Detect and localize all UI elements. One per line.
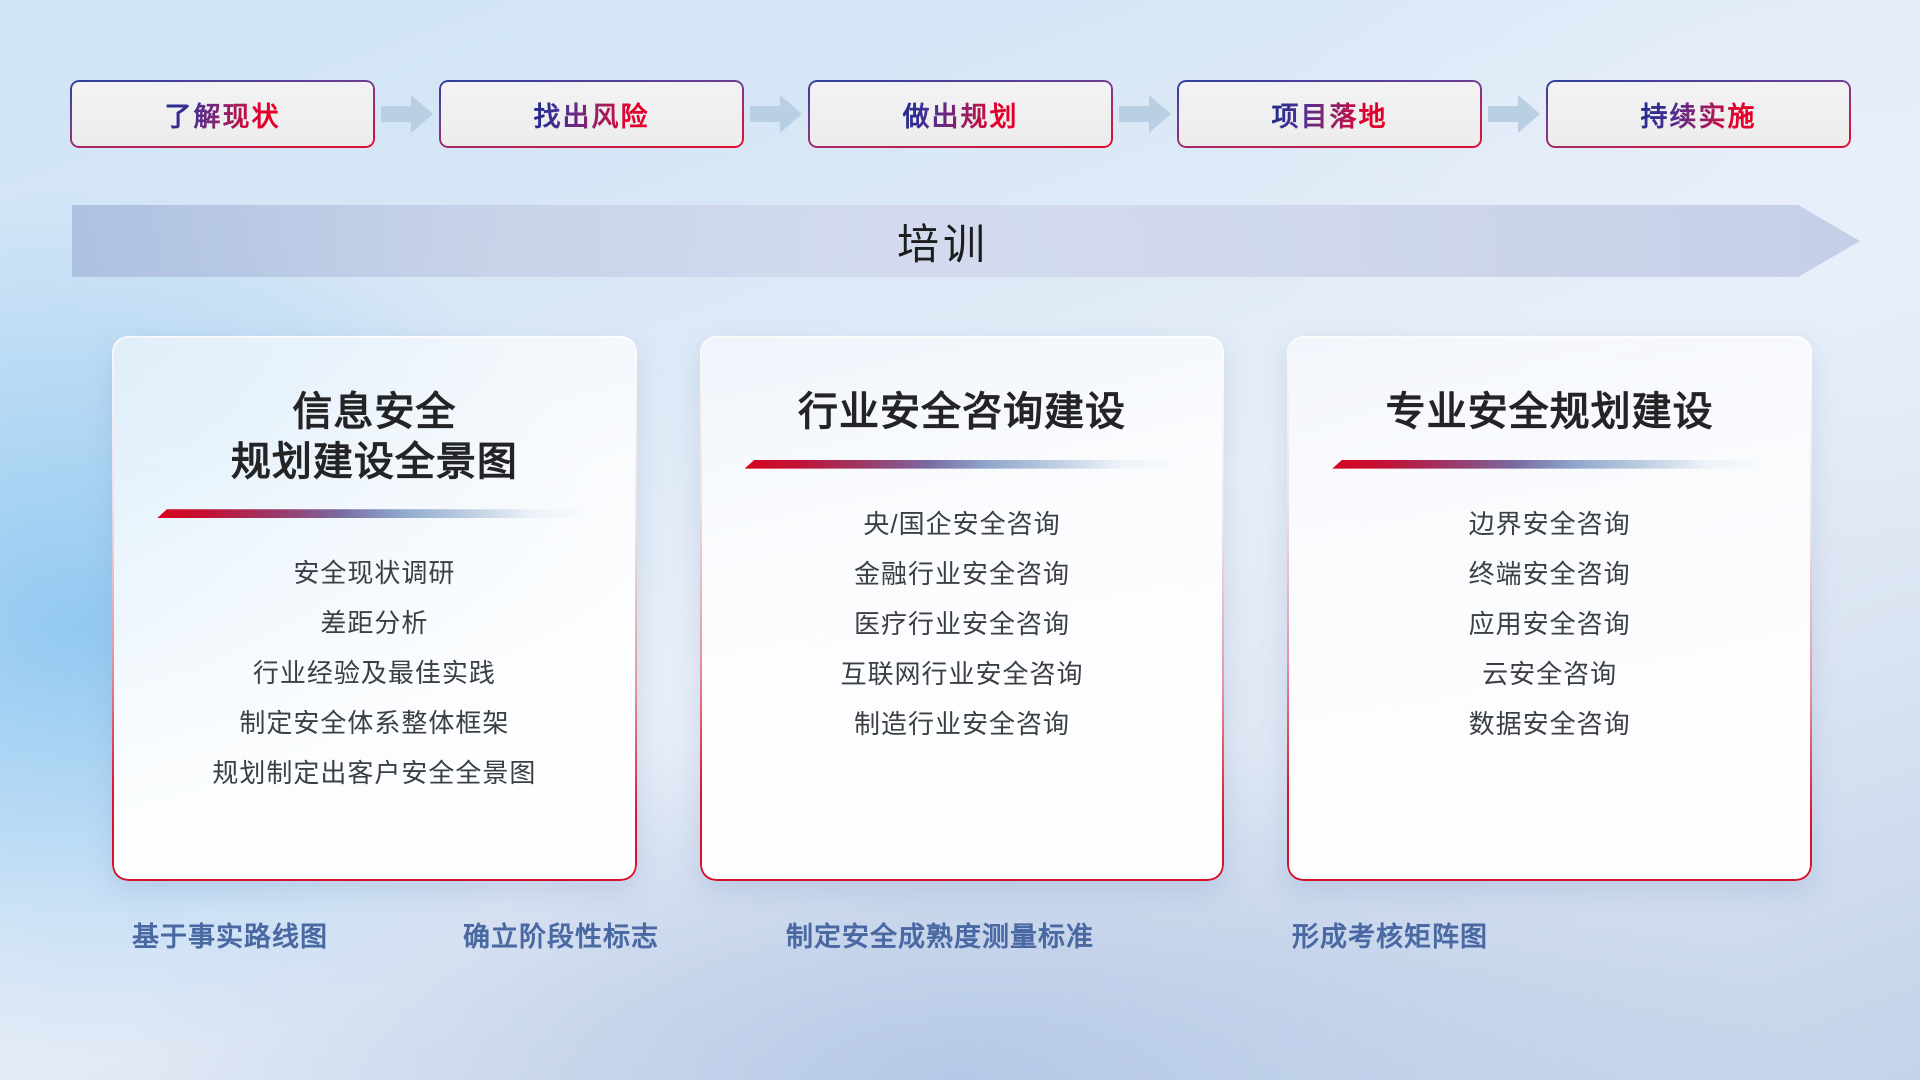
list-item: 云安全咨询: [1313, 649, 1786, 699]
card-group: 信息安全 规划建设全景图 安全现状调研 差距分析 行业经验及最佳实践 制定安全体…: [112, 336, 1812, 881]
training-banner: 培训: [72, 205, 1860, 277]
caption-1: 基于事实路线图: [132, 915, 328, 954]
list-item: 差距分析: [138, 598, 611, 648]
step-arrow-icon-2: [744, 94, 808, 134]
list-item: 安全现状调研: [138, 548, 611, 598]
list-item: 制定安全体系整体框架: [138, 698, 611, 748]
card-professional-security-planning[interactable]: 专业安全规划建设 边界安全咨询 终端安全咨询 应用安全咨询 云安全咨询 数据安全…: [1287, 336, 1812, 881]
card-inner: 信息安全 规划建设全景图 安全现状调研 差距分析 行业经验及最佳实践 制定安全体…: [112, 336, 637, 881]
list-item: 医疗行业安全咨询: [726, 599, 1199, 649]
caption-4: 形成考核矩阵图: [1292, 915, 1488, 954]
card-divider: [745, 460, 1180, 469]
step-box-4[interactable]: 项目落地: [1177, 80, 1482, 148]
list-item: 央/国企安全咨询: [726, 499, 1199, 549]
list-item: 规划制定出客户安全全景图: [138, 748, 611, 798]
list-item: 终端安全咨询: [1313, 549, 1786, 599]
step-box-3[interactable]: 做出规划: [808, 80, 1113, 148]
card-item-list: 边界安全咨询 终端安全咨询 应用安全咨询 云安全咨询 数据安全咨询: [1313, 499, 1786, 749]
step-label-5: 持续实施: [1641, 95, 1757, 134]
step-label-2: 找出风险: [534, 95, 650, 134]
step-box-1[interactable]: 了解现状: [70, 80, 375, 148]
list-item: 制造行业安全咨询: [726, 699, 1199, 749]
list-item: 边界安全咨询: [1313, 499, 1786, 549]
card-title: 信息安全 规划建设全景图: [231, 388, 518, 487]
card-industry-security-consulting[interactable]: 行业安全咨询建设 央/国企安全咨询 金融行业安全咨询 医疗行业安全咨询 互联网行…: [700, 336, 1225, 881]
card-inner: 行业安全咨询建设 央/国企安全咨询 金融行业安全咨询 医疗行业安全咨询 互联网行…: [700, 336, 1225, 881]
caption-2: 确立阶段性标志: [463, 915, 659, 954]
list-item: 应用安全咨询: [1313, 599, 1786, 649]
slide-canvas: 了解现状 找出风险 做出规划 项目落地: [0, 0, 1920, 1080]
card-divider: [1332, 460, 1767, 469]
card-divider: [157, 509, 592, 518]
list-item: 数据安全咨询: [1313, 699, 1786, 749]
step-label-3: 做出规划: [903, 95, 1019, 134]
card-inner: 专业安全规划建设 边界安全咨询 终端安全咨询 应用安全咨询 云安全咨询 数据安全…: [1287, 336, 1812, 881]
card-item-list: 安全现状调研 差距分析 行业经验及最佳实践 制定安全体系整体框架 规划制定出客户…: [138, 548, 611, 798]
process-step-flow: 了解现状 找出风险 做出规划 项目落地: [70, 79, 1860, 149]
card-information-security-blueprint[interactable]: 信息安全 规划建设全景图 安全现状调研 差距分析 行业经验及最佳实践 制定安全体…: [112, 336, 637, 881]
list-item: 行业经验及最佳实践: [138, 648, 611, 698]
step-arrow-icon-3: [1113, 94, 1177, 134]
list-item: 金融行业安全咨询: [726, 549, 1199, 599]
step-arrow-icon-1: [375, 94, 439, 134]
banner-title: 培训: [72, 205, 1860, 277]
step-arrow-icon-4: [1482, 94, 1546, 134]
list-item: 互联网行业安全咨询: [726, 649, 1199, 699]
step-label-1: 了解现状: [165, 95, 281, 134]
card-title: 行业安全咨询建设: [798, 388, 1126, 438]
step-label-4: 项目落地: [1272, 95, 1388, 134]
caption-row: 基于事实路线图 确立阶段性标志 制定安全成熟度测量标准 形成考核矩阵图: [0, 915, 1920, 965]
step-box-2[interactable]: 找出风险: [439, 80, 744, 148]
card-item-list: 央/国企安全咨询 金融行业安全咨询 医疗行业安全咨询 互联网行业安全咨询 制造行…: [726, 499, 1199, 749]
card-title: 专业安全规划建设: [1386, 388, 1714, 438]
caption-3: 制定安全成熟度测量标准: [786, 915, 1094, 954]
step-box-5[interactable]: 持续实施: [1546, 80, 1851, 148]
